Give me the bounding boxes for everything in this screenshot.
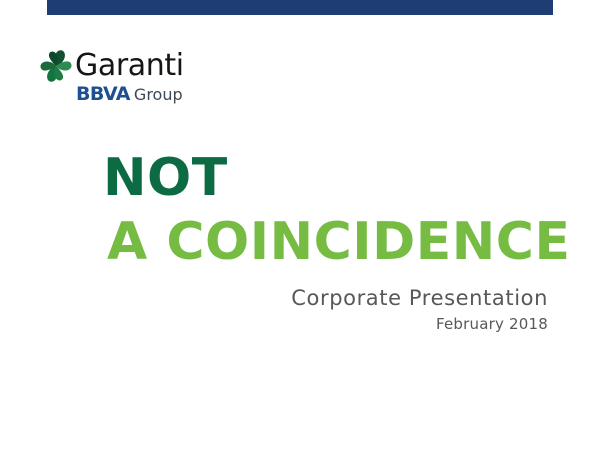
presentation-title-slide: Garanti BBVA Group NOT A COINCIDENCE Cor… [0,0,600,450]
group-label: Group [134,87,183,103]
headline-line-1: NOT [103,152,563,204]
bbva-wordmark: BBVA [76,85,130,104]
slide-subtitle-block: Corporate Presentation February 2018 [291,286,548,333]
logo-primary-row: Garanti [40,46,240,86]
headline-line-2: A COINCIDENCE [107,216,563,268]
presentation-date-label: February 2018 [291,316,548,333]
logo-secondary-row: BBVA Group [76,85,240,104]
top-navy-accent-bar [47,0,553,15]
slide-headline: NOT A COINCIDENCE [103,152,563,268]
presentation-type-label: Corporate Presentation [291,286,548,310]
garanti-clover-icon [40,49,72,83]
garanti-bbva-logo: Garanti BBVA Group [40,46,240,108]
garanti-wordmark: Garanti [75,51,184,81]
